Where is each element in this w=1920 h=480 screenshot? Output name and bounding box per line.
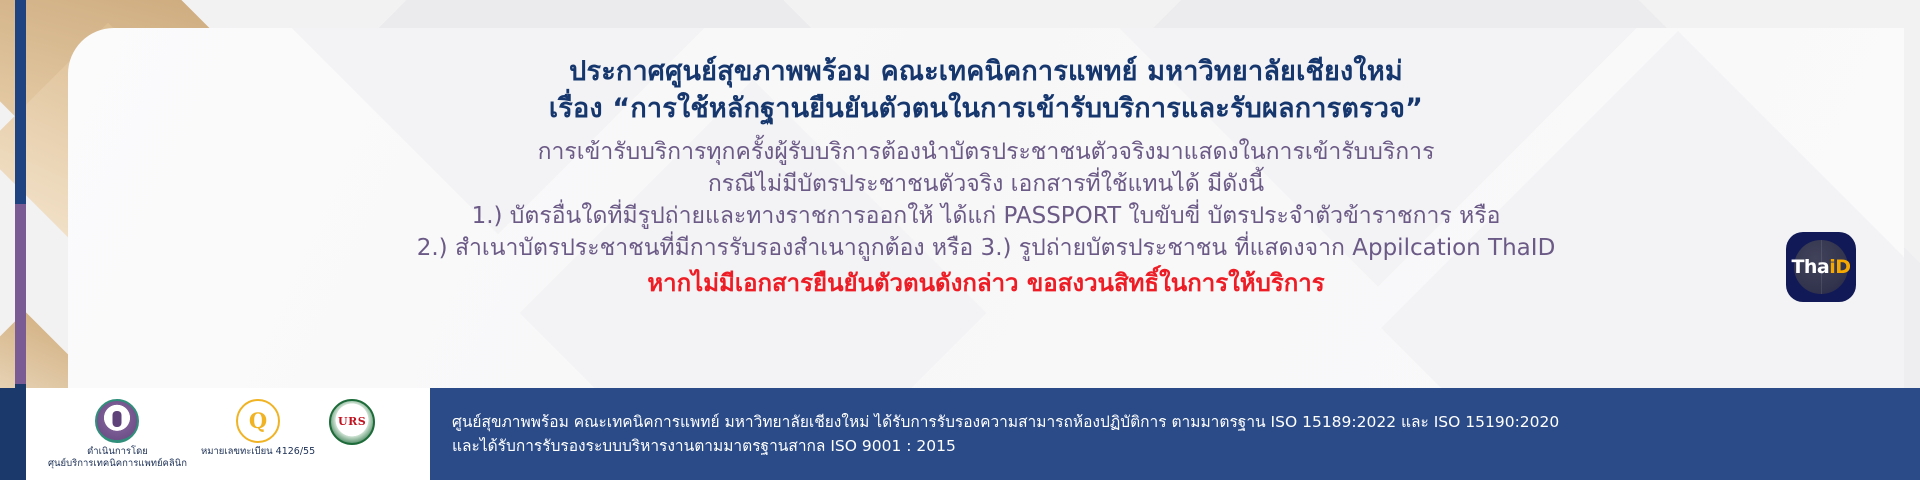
footer-accreditation-text: ศูนย์สุขภาพพร้อม คณะเทคนิคการแพทย์ มหาวิ… [430,388,1920,480]
announcement-banner: ประกาศศูนย์สุขภาพพร้อม คณะเทคนิคการแพทย์… [0,0,1920,480]
thaid-wordmark-d: D [1835,256,1850,278]
announcement-warning-line: หากไม่มีเอกสารยืนยันตัวตนดังกล่าว ขอสงวน… [68,268,1904,299]
footer-logos: ดำเนินการโดย ศุนย์บริการเทคนิคการแพทย์คล… [0,388,430,480]
footer-logo-dmsc: Q หมายเลขทะเบียน 4126/55 [201,399,315,458]
footer-logo-clinic-crest: ดำเนินการโดย ศุนย์บริการเทคนิคการแพทย์คล… [48,399,187,470]
announcement-title-line-1: ประกาศศูนย์สุขภาพพร้อม คณะเทคนิคการแพทย์… [68,54,1904,89]
dmsc-caption: หมายเลขทะเบียน 4126/55 [201,446,315,458]
clinic-crest-caption-line-1: ดำเนินการโดย [48,446,187,458]
clinic-crest-caption-line-2: ศุนย์บริการเทคนิคการแพทย์คลินิก [48,458,187,470]
announcement-body-line-3: 1.) บัตรอื่นใดที่มีรูปถ่ายและทางราชการออ… [68,202,1904,232]
announcement-title-line-2: เรื่อง “การใช้หลักฐานยืนยันตัวตนในการเข้… [68,91,1904,126]
urs-glyph: URS [338,415,366,428]
clinic-crest-seal-icon [95,399,139,443]
accent-bar-blue-top [15,0,26,204]
footer-text-line-1: ศูนย์สุขภาพพร้อม คณะเทคนิคการแพทย์ มหาวิ… [452,410,1920,434]
content-card: ประกาศศูนย์สุขภาพพร้อม คณะเทคนิคการแพทย์… [68,28,1904,388]
dmsc-caption-line-1: หมายเลขทะเบียน 4126/55 [201,446,315,458]
thaid-app-icon: ThaiD [1786,232,1856,302]
announcement-body-line-4: 2.) สำเนาบัตรประชาชนที่มีการรับรองสำเนาถ… [68,234,1904,264]
thaid-wordmark-tha: Tha [1791,256,1829,278]
urs-iso9001-seal-icon: URS [329,399,375,445]
announcement-body-line-2: กรณีไม่มีบัตรประชาชนตัวจริง เอกสารที่ใช้… [68,170,1904,200]
clinic-crest-caption: ดำเนินการโดย ศุนย์บริการเทคนิคการแพทย์คล… [48,446,187,470]
thaid-wordmark: ThaiD [1791,256,1850,278]
announcement-body-line-1: การเข้ารับบริการทุกครั้งผู้รับบริการต้อง… [68,138,1904,168]
footer-logo-urs: URS [329,399,375,445]
announcement-content: ประกาศศูนย์สุขภาพพร้อม คณะเทคนิคการแพทย์… [68,28,1904,299]
footer-text-line-2: และได้รับการรับรองระบบบริหารงานตามมาตรฐา… [452,434,1920,458]
footer: ดำเนินการโดย ศุนย์บริการเทคนิคการแพทย์คล… [0,388,1920,480]
footer-logo-row: ดำเนินการโดย ศุนย์บริการเทคนิคการแพทย์คล… [48,399,375,470]
accent-bar-purple [15,204,26,384]
dmsc-quality-seal-icon: Q [236,399,280,443]
dmsc-q-glyph: Q [249,410,267,431]
